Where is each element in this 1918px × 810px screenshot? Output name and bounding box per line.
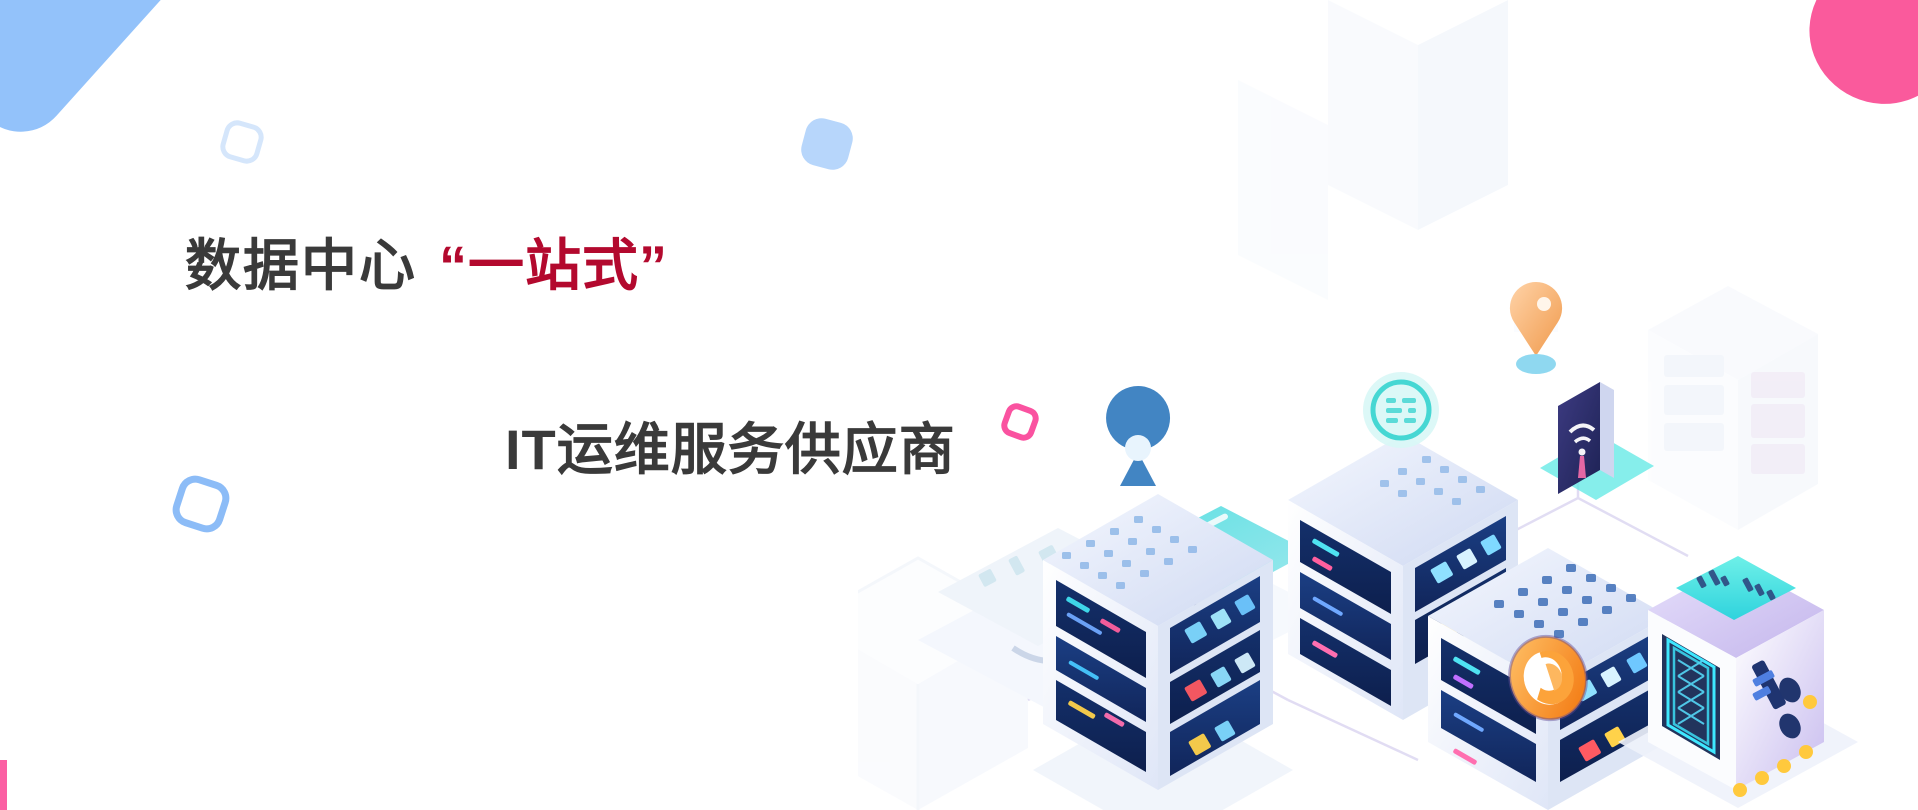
- server-rack-middle: [1288, 372, 1518, 720]
- headline-accent: “一站式”: [439, 234, 668, 297]
- pink-edge-bar-shape: [0, 760, 7, 810]
- blue-rounded-square-corner-shape: [0, 0, 192, 152]
- headline-line-2: IT运维服务供应商: [505, 405, 1085, 486]
- blue-filled-dot-shape: [798, 115, 857, 174]
- rack-front-left-screens: [1056, 580, 1146, 772]
- headline-block: 数据中心“一站式” IT运维服务供应商: [185, 235, 1085, 486]
- ghost-rack-top-right: [1648, 286, 1818, 530]
- hero-banner: 数据中心“一站式” IT运维服务供应商: [0, 0, 1918, 810]
- orange-spiral-coin-icon: [1499, 626, 1597, 729]
- magnifier-icon: [1363, 372, 1439, 448]
- blue-outline-small-shape: [217, 117, 266, 166]
- cloud-pin-icon: [1106, 386, 1170, 486]
- rack-vent-holes: [1062, 516, 1197, 589]
- cooling-grille: [1662, 634, 1720, 760]
- server-rack-front: [1033, 494, 1293, 810]
- monitor-right: [1108, 502, 1328, 668]
- pink-blob-corner-shape: [1794, 0, 1918, 120]
- rack-front-right-screens: [1170, 576, 1260, 776]
- ghost-server-cube: [858, 558, 1028, 810]
- server-rack-right: [1428, 548, 1668, 810]
- headline-prefix: 数据中心: [185, 234, 417, 297]
- monitor-left: [918, 528, 1188, 712]
- connector-lines: [1028, 420, 1688, 760]
- purple-cooling-unit: [1618, 556, 1858, 808]
- headline-line-1: 数据中心“一站式”: [185, 235, 1085, 297]
- location-pin-icon: [1510, 282, 1562, 374]
- tablet-wifi-icon: [1540, 382, 1654, 500]
- ghost-building-top: [1238, 0, 1508, 300]
